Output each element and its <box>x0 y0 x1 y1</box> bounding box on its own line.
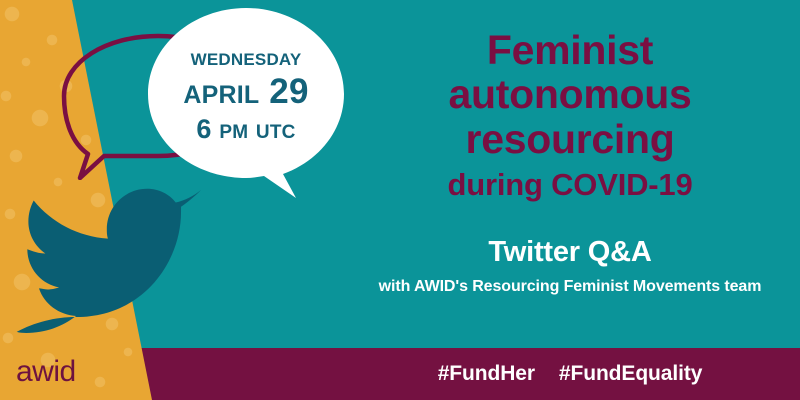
event-time: 6 pm UTC <box>196 115 295 143</box>
promo-graphic: Wednesday April 29 6 pm UTC Feminist aut… <box>0 0 800 400</box>
page-title: Feminist autonomous resourcing <box>355 28 785 161</box>
hashtag-fundher[interactable]: #FundHer <box>438 362 535 386</box>
event-date-block: Wednesday April 29 6 pm UTC <box>146 6 346 182</box>
awid-logo: awid <box>16 355 90 389</box>
hashtag-fundequality[interactable]: #FundEquality <box>559 362 702 386</box>
main-content: Feminist autonomous resourcing during CO… <box>355 0 785 348</box>
headline-subtitle: during COVID-19 <box>355 168 785 202</box>
awid-logo-text: awid <box>16 355 76 388</box>
event-weekday: Wednesday <box>191 45 302 70</box>
event-date: April 29 <box>183 74 308 111</box>
event-byline: with AWID's Resourcing Feminist Movement… <box>355 278 785 296</box>
headline-line-2: autonomous <box>355 72 785 116</box>
twitter-bird-icon <box>12 183 202 333</box>
headline-line-1: Feminist <box>355 28 785 72</box>
hashtag-row: #FundHer #FundEquality <box>355 348 785 400</box>
event-type-label: Twitter Q&A <box>355 236 785 269</box>
headline-line-3: resourcing <box>355 117 785 161</box>
